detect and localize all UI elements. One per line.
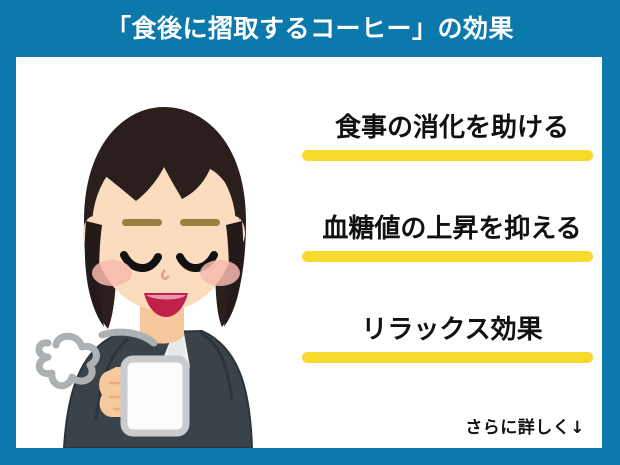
coffee-woman-illustration [24, 71, 304, 448]
effect-underline-2 [302, 251, 593, 262]
page-title: 「食後に摺取するコーヒー」の効果 [106, 16, 514, 41]
effect-underline-1 [302, 150, 593, 161]
title-bar: 「食後に摺取するコーヒー」の効果 [0, 0, 620, 57]
content-card: 食事の消化を助ける 血糖値の上昇を抑える リラックス効果 さらに詳しく↓ [16, 57, 602, 448]
effect-underline-3 [302, 352, 593, 363]
mug-shape [124, 359, 186, 433]
effect-item-3: リラックス効果 [302, 316, 602, 363]
effect-label-1: 食事の消化を助ける [302, 114, 602, 143]
effect-label-2: 血糖値の上昇を抑える [302, 215, 602, 244]
poster-root: 「食後に摺取するコーヒー」の効果 [0, 0, 620, 465]
eyebrow-left [122, 219, 162, 226]
more-details-link[interactable]: さらに詳しく↓ [465, 413, 585, 438]
effects-list: 食事の消化を助ける 血糖値の上昇を抑える リラックス効果 [302, 57, 602, 448]
effect-item-2: 血糖値の上昇を抑える [302, 215, 602, 262]
effect-label-3: リラックス効果 [302, 316, 602, 345]
effect-item-1: 食事の消化を助ける [302, 114, 602, 161]
eyebrow-right [180, 219, 220, 226]
